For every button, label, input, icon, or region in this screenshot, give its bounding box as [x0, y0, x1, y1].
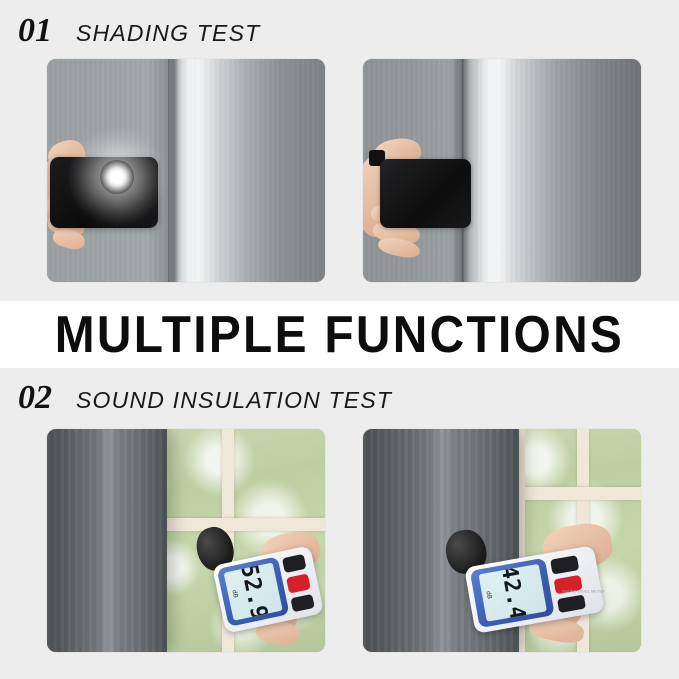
meter-unit: dB — [230, 590, 238, 599]
sound-level-meter: 42.4 dB SOUND LEVEL METER — [446, 523, 618, 652]
section-title-shading-test: SHADING TEST — [76, 22, 260, 45]
flashlight-icon — [100, 160, 134, 194]
meter-reading: 52.9 — [236, 563, 270, 622]
meter-button-mode[interactable] — [290, 594, 314, 612]
section-title-sound-insulation-test: SOUND INSULATION TEST — [76, 389, 392, 412]
infographic-page: 01 SHADING TEST — [0, 0, 679, 679]
photo-shading-flashlight-on — [47, 59, 325, 282]
meter-lcd: 52.9 dB — [224, 563, 283, 622]
curtain-panel — [47, 429, 167, 652]
sound-level-meter: 52.9 dB — [200, 525, 325, 652]
photo-sound-at-window: 52.9 dB — [47, 429, 325, 652]
smartphone — [50, 157, 158, 228]
meter-reading: 42.4 — [497, 564, 528, 622]
curtain-highlight — [97, 429, 119, 652]
photo-shading-flashlight-off — [363, 59, 641, 282]
section-number-01: 01 — [18, 14, 52, 48]
meter-button-power[interactable] — [281, 554, 306, 573]
curtain-seam — [168, 59, 170, 282]
meter-button-power[interactable] — [550, 555, 578, 574]
curtain-highlight — [175, 59, 203, 282]
smartphone — [380, 159, 472, 228]
meter-bezel: 52.9 dB — [216, 557, 289, 628]
section-header-01: 01 SHADING TEST — [18, 14, 260, 48]
meter-brand-label: SOUND LEVEL METER — [562, 590, 605, 594]
banner-multiple-functions: MULTIPLE FUNCTIONS — [0, 301, 679, 368]
photo-sound-through-curtain: 42.4 dB SOUND LEVEL METER — [363, 429, 641, 652]
meter-unit: dB — [485, 591, 492, 600]
section-header-02: 02 SOUND INSULATION TEST — [18, 381, 392, 415]
meter-button-record[interactable] — [286, 574, 311, 593]
curtain-highlight — [474, 59, 507, 282]
meter-bezel: 42.4 dB — [470, 558, 555, 628]
meter-button-mode[interactable] — [557, 595, 585, 613]
meter-lcd: 42.4 dB — [478, 564, 546, 622]
section-number-02: 02 — [18, 381, 52, 415]
banner-title: MULTIPLE FUNCTIONS — [55, 309, 624, 361]
